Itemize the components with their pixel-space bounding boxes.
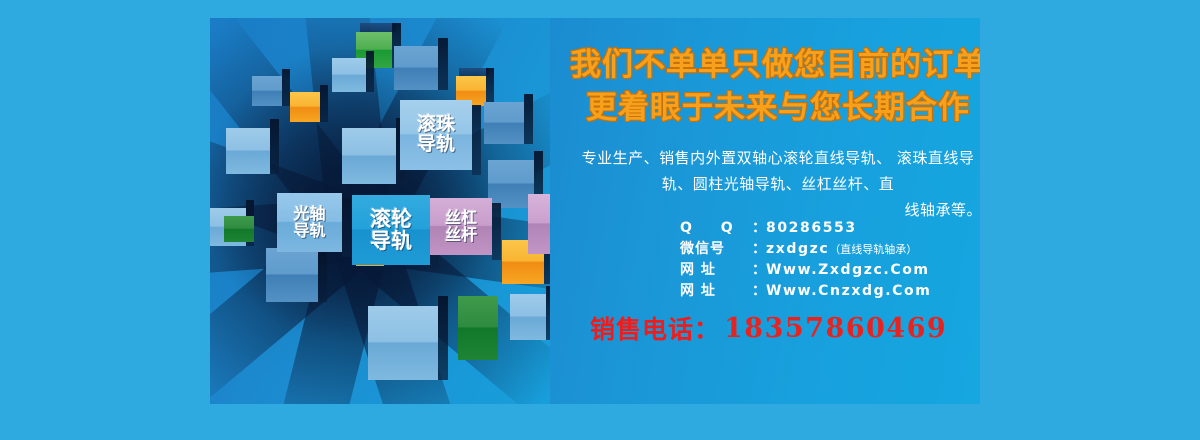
product-label-sigang-sigan[interactable]: 丝杠 丝杆 [430,198,492,255]
headline: 我们不单单只做您目前的订单 更着眼于未来与您长期合作 [568,44,980,130]
cube [394,46,438,90]
sales-phone-number[interactable]: 18357860469 [724,313,947,344]
contact-note-wechat: （直线导轨轴承） [829,239,917,260]
headline-line-1: 我们不单单只做您目前的订单 [568,44,980,87]
contact-row-website-2: 网 址 ： Www.Cnzxdg.Com [680,281,980,302]
contact-separator: ： [752,239,766,260]
product-label-line1: 滚轮 [370,208,412,230]
promo-banner: 滚珠 导轨 光轴 导轨 滚轮 导轨 [210,18,980,404]
cube-burst-graphic: 滚珠 导轨 光轴 导轨 滚轮 导轨 [210,18,550,404]
contact-label: 微信号 [680,239,752,260]
product-label-gunzhu-daogui[interactable]: 滚珠 导轨 [400,100,472,170]
contact-value-website-2[interactable]: Www.Cnzxdg.Com [766,281,931,302]
contact-value-wechat[interactable]: zxdgzc [766,239,829,260]
description-line-1: 专业生产、销售内外置双轴心滚轮直线导轨、 [582,149,892,167]
description: 专业生产、销售内外置双轴心滚轮直线导轨、 滚珠直线导轨、圆柱光轴导轨、丝杠丝杆、… [568,146,980,223]
product-label-gunlun-daogui[interactable]: 滚轮 导轨 [352,195,430,265]
cube-side-shadow [342,198,351,257]
contact-row-website-1: 网 址 ： Www.Zxdgzc.Com [680,260,980,281]
contact-row-wechat: 微信号 ： zxdgzc （直线导轨轴承） [680,239,980,260]
contact-block: Q Q ： 80286553 微信号 ： zxdgzc （直线导轨轴承） 网 址… [680,218,980,302]
cube [252,76,282,106]
cube-side-shadow [472,105,481,175]
product-label-line2: 丝杆 [445,227,477,244]
contact-value-qq[interactable]: 80286553 [766,218,857,239]
cube-side-shadow [492,203,501,260]
contact-row-qq: Q Q ： 80286553 [680,218,980,239]
headline-line-2: 更着眼于未来与您长期合作 [568,87,980,130]
product-label-line1: 滚珠 [417,115,455,135]
banner-page: 滚珠 导轨 光轴 导轨 滚轮 导轨 [0,0,1200,440]
contact-label: 网 址 [680,281,752,302]
product-label-line1: 光轴 [293,206,325,223]
cube [226,128,270,174]
product-label-line2: 导轨 [417,135,455,155]
sales-phone[interactable]: 销售电话： 18357860469 [590,310,980,346]
cube [484,102,524,144]
contact-separator: ： [752,281,766,302]
cube [266,248,318,302]
cube [458,296,498,360]
contact-separator: ： [752,218,766,239]
cube [342,128,396,184]
contact-separator: ： [752,260,766,281]
cube [332,58,366,92]
contact-label: 网 址 [680,260,752,281]
cube [510,294,546,340]
sales-phone-label: 销售电话： [590,310,720,346]
product-label-line2: 导轨 [293,223,325,240]
cube [368,306,438,380]
contact-value-website-1[interactable]: Www.Zxdgzc.Com [766,260,930,281]
contact-label: Q Q [680,218,752,239]
cube [290,92,320,122]
cube [224,216,254,242]
product-label-line2: 导轨 [370,230,412,252]
cube [528,194,550,254]
product-label-line1: 丝杠 [445,210,477,227]
product-label-guangzhou-daogui[interactable]: 光轴 导轨 [277,193,342,252]
banner-content: 我们不单单只做您目前的订单 更着眼于未来与您长期合作 专业生产、销售内外置双轴心… [550,18,980,404]
